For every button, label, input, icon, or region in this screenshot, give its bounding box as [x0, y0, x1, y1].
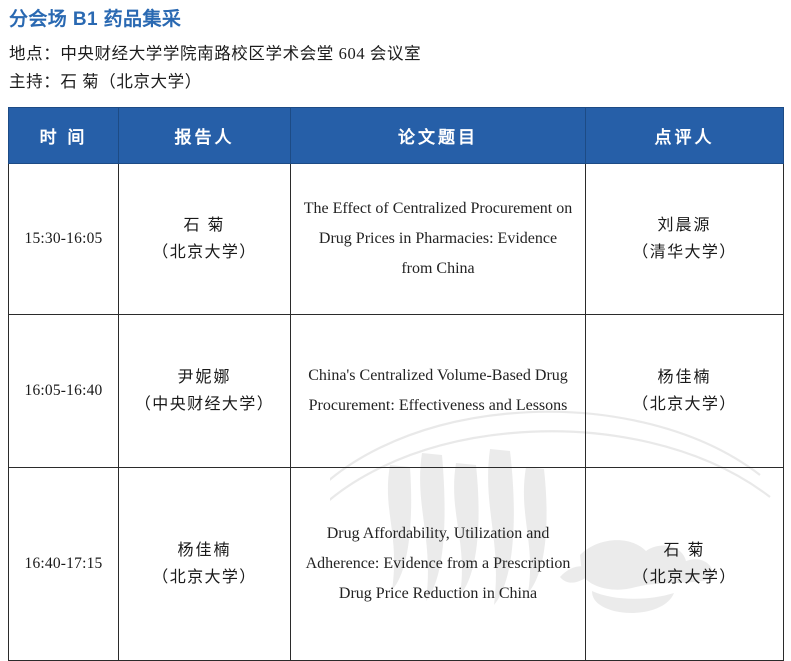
discussant-affiliation: （北京大学） [592, 391, 777, 418]
discussant-affiliation: （清华大学） [592, 239, 777, 266]
location-label: 地点： [9, 44, 60, 63]
page-title: 分会场 B1 药品集采 [9, 7, 791, 33]
schedule-table-wrapper: 时 间 报告人 论文题目 点评人 15:30-16:05 石 菊 （北京大学） … [8, 107, 783, 661]
table-row: 15:30-16:05 石 菊 （北京大学） The Effect of Cen… [9, 164, 784, 315]
discussant-affiliation: （北京大学） [592, 564, 777, 591]
cell-discussant: 杨佳楠 （北京大学） [586, 315, 784, 468]
location-line: 地点：中央财经大学学院南路校区学术会堂 604 会议室 [9, 40, 791, 68]
presenter-affiliation: （北京大学） [125, 564, 284, 591]
presenter-affiliation: （北京大学） [125, 239, 284, 266]
table-row: 16:40-17:15 杨佳楠 （北京大学） Drug Affordabilit… [9, 468, 784, 661]
discussant-name: 刘晨源 [592, 212, 777, 239]
table-header-row: 时 间 报告人 论文题目 点评人 [9, 108, 784, 164]
column-header-presenter: 报告人 [119, 108, 291, 164]
chair-label: 主持： [9, 72, 60, 91]
presenter-name: 杨佳楠 [125, 537, 284, 564]
presenter-affiliation: （中央财经大学） [125, 391, 284, 418]
cell-time: 16:05-16:40 [9, 315, 119, 468]
table-row: 16:05-16:40 尹妮娜 （中央财经大学） China's Central… [9, 315, 784, 468]
discussant-name: 石 菊 [592, 537, 777, 564]
cell-discussant: 刘晨源 （清华大学） [586, 164, 784, 315]
column-header-discussant: 点评人 [586, 108, 784, 164]
discussant-name: 杨佳楠 [592, 364, 777, 391]
chair-line: 主持：石 菊（北京大学） [9, 68, 791, 96]
cell-paper-title: Drug Affordability, Utilization and Adhe… [291, 468, 586, 661]
schedule-table: 时 间 报告人 论文题目 点评人 15:30-16:05 石 菊 （北京大学） … [8, 107, 784, 661]
cell-paper-title: The Effect of Centralized Procurement on… [291, 164, 586, 315]
cell-presenter: 石 菊 （北京大学） [119, 164, 291, 315]
page-header: 分会场 B1 药品集采 地点：中央财经大学学院南路校区学术会堂 604 会议室 … [0, 0, 791, 96]
chair-value: 石 菊（北京大学） [60, 72, 202, 91]
cell-time: 15:30-16:05 [9, 164, 119, 315]
location-value: 中央财经大学学院南路校区学术会堂 604 会议室 [60, 44, 421, 63]
cell-presenter: 尹妮娜 （中央财经大学） [119, 315, 291, 468]
cell-presenter: 杨佳楠 （北京大学） [119, 468, 291, 661]
presenter-name: 尹妮娜 [125, 364, 284, 391]
cell-discussant: 石 菊 （北京大学） [586, 468, 784, 661]
cell-paper-title: China's Centralized Volume-Based Drug Pr… [291, 315, 586, 468]
presenter-name: 石 菊 [125, 212, 284, 239]
column-header-paper-title: 论文题目 [291, 108, 586, 164]
cell-time: 16:40-17:15 [9, 468, 119, 661]
column-header-time: 时 间 [9, 108, 119, 164]
